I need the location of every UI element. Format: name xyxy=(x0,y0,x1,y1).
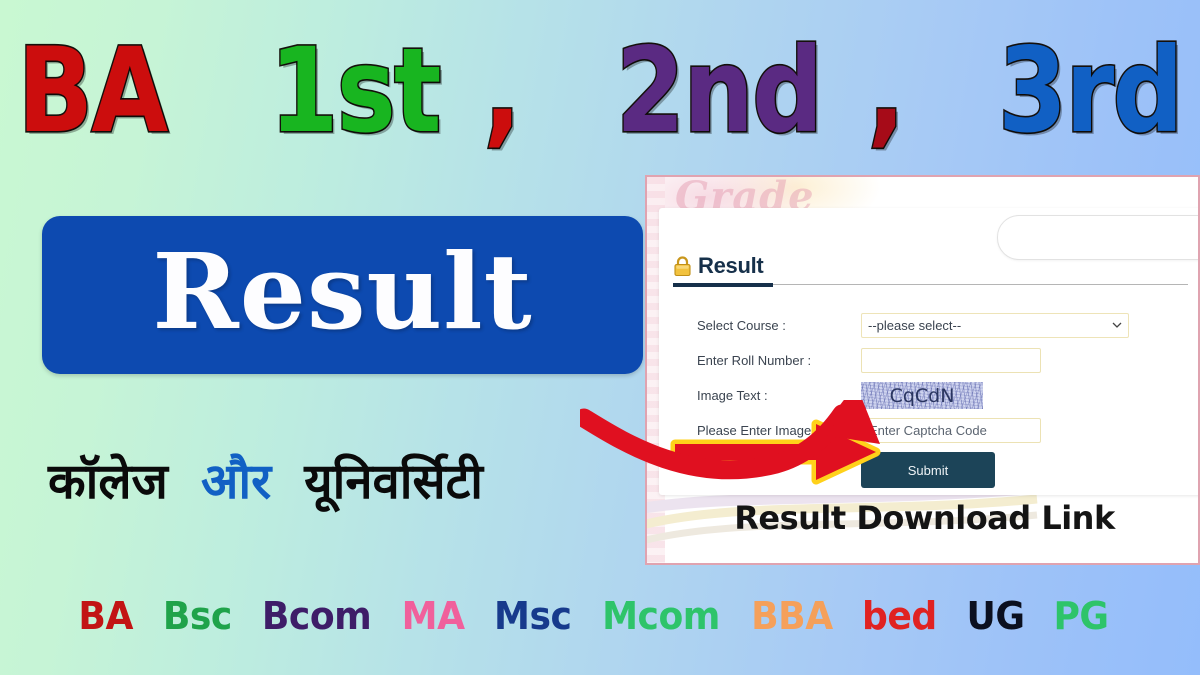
course-item-ma: MA xyxy=(401,594,464,638)
course-item-bba: BBA xyxy=(751,594,833,638)
roll-number-input[interactable] xyxy=(861,348,1041,373)
form-row-select-course: Select Course : --please select-- xyxy=(697,308,1187,343)
course-list: BA Bsc Bcom MA Msc Mcom BBA bed UG PG xyxy=(0,594,1200,638)
result-banner: Result xyxy=(42,216,643,374)
header-divider xyxy=(673,283,1188,287)
form-row-enter-image-text: Please Enter Image Text : Enter Captcha … xyxy=(697,413,1187,448)
title-part-ba: BA xyxy=(17,34,166,151)
label-enter-image-text: Please Enter Image Text : xyxy=(697,423,861,438)
form-row-image-text: Image Text : CqCdN xyxy=(697,378,1187,413)
subtitle-part-college: कॉलेज xyxy=(48,453,168,510)
captcha-image: CqCdN xyxy=(861,382,983,409)
form-row-submit: Submit xyxy=(697,448,1187,492)
card-header: Result xyxy=(673,255,763,277)
title-comma-2: , xyxy=(867,34,903,151)
course-item-pg: PG xyxy=(1053,594,1108,638)
form-row-roll-number: Enter Roll Number : xyxy=(697,343,1187,378)
search-input[interactable] xyxy=(997,215,1200,260)
captcha-input-placeholder: Enter Captcha Code xyxy=(869,423,987,438)
captcha-text: CqCdN xyxy=(890,385,955,407)
label-roll-number: Enter Roll Number : xyxy=(697,353,861,368)
subtitle-part-university: यूनिवर्सिटी xyxy=(304,453,483,510)
result-download-link-label: Result Download Link xyxy=(647,499,1200,537)
submit-button[interactable]: Submit xyxy=(861,452,995,488)
chevron-down-icon xyxy=(1112,320,1122,330)
card-title: Result xyxy=(698,255,763,277)
label-select-course: Select Course : xyxy=(697,318,861,333)
padlock-icon xyxy=(673,256,692,277)
subtitle: कॉलेज और यूनिवर्सिटी xyxy=(48,454,648,510)
course-item-ba: BA xyxy=(79,594,134,638)
label-image-text: Image Text : xyxy=(697,388,861,403)
select-course-value: --please select-- xyxy=(868,318,961,333)
result-portal-screenshot: Grade Result Select Course : xyxy=(645,175,1200,565)
title-part-2nd: 2nd xyxy=(615,34,820,151)
captcha-input[interactable]: Enter Captcha Code xyxy=(861,418,1041,443)
course-item-mcom: Mcom xyxy=(602,594,720,638)
page-title: BA 1st , 2nd , 3rd xyxy=(0,38,1200,146)
course-item-bcom: Bcom xyxy=(262,594,371,638)
title-part-3rd: 3rd xyxy=(998,34,1182,151)
course-item-ug: UG xyxy=(966,594,1024,638)
select-course-dropdown[interactable]: --please select-- xyxy=(861,313,1129,338)
course-item-msc: Msc xyxy=(494,594,571,638)
subtitle-part-aur: और xyxy=(201,453,271,510)
title-comma-1: , xyxy=(484,34,520,151)
result-banner-label: Result xyxy=(152,240,532,344)
result-form-card: Result Select Course : --please select--… xyxy=(659,208,1200,495)
result-form: Select Course : --please select-- Enter … xyxy=(697,308,1187,492)
course-item-bsc: Bsc xyxy=(162,594,231,638)
title-part-1st: 1st xyxy=(269,34,439,151)
course-item-bed: bed xyxy=(862,594,937,638)
